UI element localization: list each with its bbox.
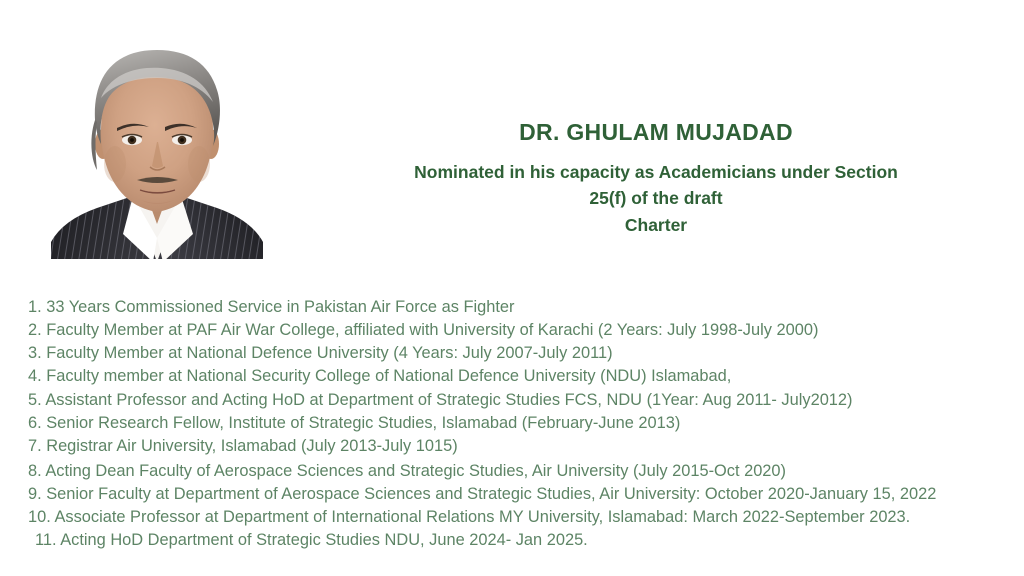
list-item: 1. 33 Years Commissioned Service in Paki…	[28, 299, 1010, 315]
list-item-number: 7.	[28, 437, 42, 455]
list-item: 8. Acting Dean Faculty of Aerospace Scie…	[28, 463, 1010, 479]
list-item-number: 6.	[28, 414, 42, 432]
list-item: 2. Faculty Member at PAF Air War College…	[28, 322, 1010, 338]
person-role-line-3: Charter	[332, 212, 980, 239]
list-item-text: Registrar Air University, Islamabad (Jul…	[42, 437, 458, 455]
list-item: 3. Faculty Member at National Defence Un…	[28, 345, 1010, 361]
list-item: 10. Associate Professor at Department of…	[28, 509, 1010, 525]
list-item-number: 4.	[28, 367, 42, 385]
list-item: 4. Faculty member at National Security C…	[28, 368, 1010, 384]
slide-canvas: DR. GHULAM MUJADAD Nominated in his capa…	[0, 0, 1024, 576]
list-item-text: Acting Dean Faculty of Aerospace Science…	[42, 462, 786, 480]
list-item-number: 3.	[28, 344, 42, 362]
list-item-text: Faculty Member at National Defence Unive…	[42, 344, 613, 362]
list-item-text: 33 Years Commissioned Service in Pakista…	[42, 298, 515, 316]
list-item-number: 1.	[28, 298, 42, 316]
person-role-line-2: 25(f) of the draft	[332, 185, 980, 212]
list-item: 5. Assistant Professor and Acting HoD at…	[28, 392, 1010, 408]
portrait-photo-image	[37, 28, 276, 262]
list-item-text: Faculty member at National Security Coll…	[42, 367, 732, 385]
person-role: Nominated in his capacity as Academician…	[332, 159, 980, 239]
heading-block: DR. GHULAM MUJADAD Nominated in his capa…	[332, 118, 980, 239]
list-item-text: Senior Research Fellow, Institute of Str…	[42, 414, 681, 432]
credentials-list: 1. 33 Years Commissioned Service in Paki…	[28, 299, 1010, 555]
list-item: 6. Senior Research Fellow, Institute of …	[28, 415, 1010, 431]
list-item-number: 9.	[28, 485, 42, 503]
list-item-number: 5.	[28, 391, 42, 409]
list-item-number: 2.	[28, 321, 42, 339]
list-item-number: 11.	[35, 531, 57, 549]
list-item-number: 8.	[28, 462, 42, 480]
list-item-number: 10.	[28, 508, 51, 526]
page-title: DR. GHULAM MUJADAD	[332, 118, 980, 147]
portrait-photo	[37, 28, 276, 262]
list-item-text: Faculty Member at PAF Air War College, a…	[42, 321, 819, 339]
list-item: 9. Senior Faculty at Department of Aeros…	[28, 486, 1010, 502]
list-item-text: Assistant Professor and Acting HoD at De…	[42, 391, 853, 409]
list-item: 11. Acting HoD Department of Strategic S…	[28, 532, 1010, 548]
person-role-line-1: Nominated in his capacity as Academician…	[332, 159, 980, 186]
list-item-text: Associate Professor at Department of Int…	[51, 508, 910, 526]
list-item-text: Acting HoD Department of Strategic Studi…	[57, 531, 588, 549]
list-item: 7. Registrar Air University, Islamabad (…	[28, 438, 1010, 454]
list-item-text: Senior Faculty at Department of Aerospac…	[42, 485, 937, 503]
